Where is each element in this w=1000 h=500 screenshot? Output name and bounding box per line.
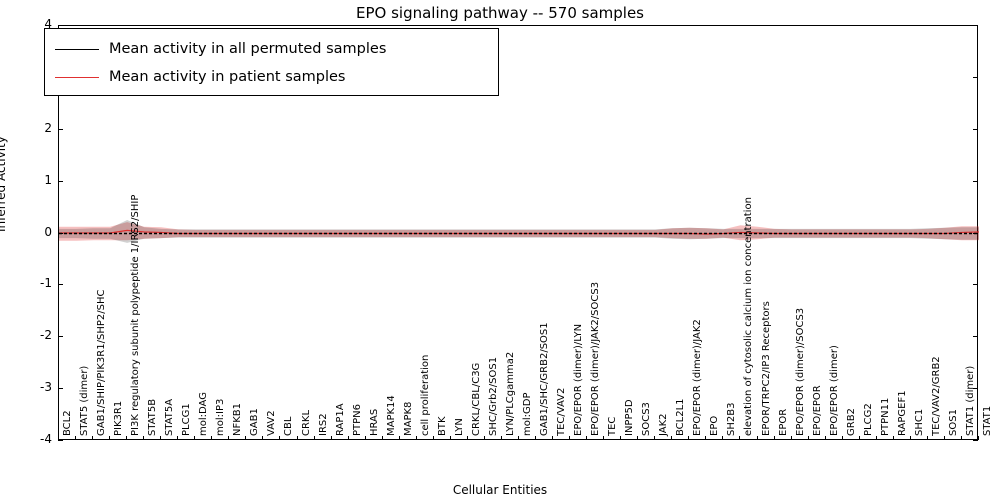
x-tick-mark [331, 436, 332, 440]
y-tick-label: 1 [12, 173, 52, 187]
x-tick-label: RAPGEF1 [897, 390, 908, 436]
x-tick-mark [671, 436, 672, 440]
x-tick-mark [518, 436, 519, 440]
x-tick-mark [842, 436, 843, 440]
x-tick-mark [433, 436, 434, 440]
x-tick-label: SOCS3 [641, 402, 652, 436]
x-tick-label: mol:DAG [198, 392, 209, 436]
x-tick-label: PTPN6 [352, 404, 363, 436]
x-tick-mark [757, 436, 758, 440]
legend-label-permuted: Mean activity in all permuted samples [109, 41, 386, 57]
x-tick-mark [774, 436, 775, 440]
x-tick-mark [177, 436, 178, 440]
x-tick-mark [569, 436, 570, 440]
x-tick-mark [961, 436, 962, 440]
x-tick-mark [637, 436, 638, 440]
y-tick-mark [973, 129, 978, 130]
x-tick-mark [978, 436, 979, 440]
x-tick-mark [722, 436, 723, 440]
legend-line-patient [55, 77, 99, 78]
x-tick-mark [262, 436, 263, 440]
y-tick-mark [973, 336, 978, 337]
x-tick-label: RAP1A [335, 403, 346, 436]
x-tick-mark [876, 436, 877, 440]
x-tick-label: mol:IP3 [215, 399, 226, 436]
x-tick-label: EPO/EPOR (dimer)/LYN [573, 324, 584, 436]
legend-label-patient: Mean activity in patient samples [109, 69, 345, 85]
y-tick-mark [973, 440, 978, 441]
x-tick-label: PI3K regulatory subunit polypeptide 1/IR… [130, 195, 141, 436]
x-tick-label: STAT5 (dimer) [79, 366, 90, 436]
x-tick-mark [314, 436, 315, 440]
x-tick-label: JAK2 [658, 413, 669, 436]
x-tick-label: cell proliferation [420, 355, 431, 436]
x-tick-mark [228, 436, 229, 440]
x-tick-label: MAPK14 [386, 395, 397, 436]
x-tick-label: GAB1/SHIP/PIK3R1/SHP2/SHC [96, 290, 107, 436]
x-tick-label: PIK3R1 [113, 401, 124, 436]
x-tick-label: TEC/VAV2/GRB2 [931, 356, 942, 436]
x-tick-mark [416, 436, 417, 440]
x-tick-mark [688, 436, 689, 440]
y-axis-title: Inferred Activity [0, 136, 8, 232]
x-tick-label: GAB1/SHC/GRB2/SOS1 [539, 322, 550, 436]
x-tick-label: STAT5B [147, 399, 158, 436]
x-tick-mark [467, 436, 468, 440]
x-tick-label: EPO/EPOR (dimer) [829, 345, 840, 436]
x-tick-mark [654, 436, 655, 440]
x-tick-mark [75, 436, 76, 440]
x-tick-mark [825, 436, 826, 440]
x-tick-label: STAT1 [982, 406, 993, 436]
x-tick-label: CRKL [301, 410, 312, 436]
x-tick-label: NFKB1 [232, 403, 243, 436]
x-tick-label: TEC [607, 417, 618, 436]
x-tick-label: EPO/EPOR (dimer)/JAK2/SOCS3 [590, 282, 601, 436]
x-tick-label: EPO/EPOR (dimer)/JAK2 [692, 319, 703, 436]
x-tick-mark [399, 436, 400, 440]
x-tick-mark [382, 436, 383, 440]
x-tick-label: PTPN11 [880, 398, 891, 436]
x-tick-label: GRB2 [846, 408, 857, 436]
y-tick-label: -1 [12, 276, 52, 290]
x-axis-title: Cellular Entities [0, 483, 1000, 497]
y-tick-mark [58, 440, 63, 441]
x-tick-mark [586, 436, 587, 440]
x-tick-mark [92, 436, 93, 440]
permuted-confidence-band [59, 220, 979, 243]
x-tick-mark [143, 436, 144, 440]
x-tick-mark [348, 436, 349, 440]
x-tick-mark [620, 436, 621, 440]
x-tick-label: elevation of cytosolic calcium ion conce… [743, 197, 754, 436]
x-tick-label: LYN [454, 418, 465, 436]
chart-title: EPO signaling pathway -- 570 samples [0, 4, 1000, 22]
x-tick-label: LYN/PLCgamma2 [505, 352, 516, 436]
x-tick-label: mol:GDP [522, 393, 533, 437]
x-tick-label: CBL [283, 417, 294, 436]
x-tick-mark [791, 436, 792, 440]
x-tick-mark [109, 436, 110, 440]
x-tick-mark [705, 436, 706, 440]
legend-item: Mean activity in patient samples [55, 63, 488, 91]
x-tick-mark [739, 436, 740, 440]
y-tick-label: 2 [12, 121, 52, 135]
y-tick-label: -2 [12, 328, 52, 342]
x-tick-label: HRAS [369, 409, 380, 436]
x-tick-mark [279, 436, 280, 440]
x-tick-mark [927, 436, 928, 440]
x-tick-label: TEC/VAV2 [556, 388, 567, 436]
x-tick-label: EPOR [778, 409, 789, 436]
x-tick-label: CRKL/CBL/C3G [471, 363, 482, 436]
y-tick-mark [58, 336, 63, 337]
x-tick-label: SHC1 [914, 409, 925, 436]
x-tick-label: BTK [437, 416, 448, 436]
x-tick-label: BCL2 [62, 410, 73, 436]
x-tick-mark [893, 436, 894, 440]
x-tick-label: PLCG2 [863, 403, 874, 436]
y-tick-mark [58, 129, 63, 130]
y-tick-mark [973, 284, 978, 285]
x-tick-label: SH2B3 [726, 403, 737, 436]
legend-item: Mean activity in all permuted samples [55, 35, 488, 63]
x-tick-label: IRS2 [318, 413, 329, 436]
y-tick-mark [58, 233, 63, 234]
x-tick-label: EPO [709, 416, 720, 436]
x-tick-mark [194, 436, 195, 440]
x-tick-mark [365, 436, 366, 440]
chart-figure: EPO signaling pathway -- 570 samples -4-… [0, 0, 1000, 500]
x-tick-mark [450, 436, 451, 440]
y-tick-label: -4 [12, 432, 52, 446]
legend-line-permuted [55, 49, 99, 50]
x-tick-mark [58, 436, 59, 440]
y-tick-mark [973, 181, 978, 182]
x-tick-mark [245, 436, 246, 440]
y-tick-mark [973, 77, 978, 78]
y-tick-mark [58, 25, 63, 26]
x-tick-mark [808, 436, 809, 440]
y-tick-mark [973, 25, 978, 26]
y-tick-mark [58, 388, 63, 389]
x-tick-mark [484, 436, 485, 440]
x-tick-mark [501, 436, 502, 440]
x-tick-label: VAV2 [266, 410, 277, 436]
x-tick-mark [211, 436, 212, 440]
x-tick-mark [126, 436, 127, 440]
x-tick-mark [859, 436, 860, 440]
legend: Mean activity in all permuted samples Me… [44, 28, 499, 96]
y-tick-mark [58, 181, 63, 182]
x-tick-label: SOS1 [948, 409, 959, 436]
x-tick-mark [944, 436, 945, 440]
x-tick-label: EPO/EPOR [812, 385, 823, 436]
x-tick-label: EPO/EPOR (dimer)/SOCS3 [795, 308, 806, 436]
y-tick-label: 0 [12, 225, 52, 239]
x-tick-label: MAPK8 [403, 402, 414, 436]
x-tick-label: INPP5D [624, 399, 635, 436]
x-tick-label: PLCG1 [181, 403, 192, 436]
x-tick-label: EPOR/TRPC2/IP3 Receptors [761, 301, 772, 436]
x-tick-mark [552, 436, 553, 440]
x-tick-mark [603, 436, 604, 440]
x-tick-label: STAT5A [164, 399, 175, 436]
y-tick-mark [973, 233, 978, 234]
x-tick-label: GAB1 [249, 408, 260, 436]
y-tick-label: -3 [12, 380, 52, 394]
y-tick-mark [58, 284, 63, 285]
x-tick-mark [160, 436, 161, 440]
x-tick-mark [297, 436, 298, 440]
x-tick-label: STAT1 (dimer) [965, 366, 976, 436]
x-tick-mark [910, 436, 911, 440]
x-tick-label: SHC/Grb2/SOS1 [488, 357, 499, 436]
x-tick-label: BCL2L1 [675, 398, 686, 436]
x-tick-mark [535, 436, 536, 440]
